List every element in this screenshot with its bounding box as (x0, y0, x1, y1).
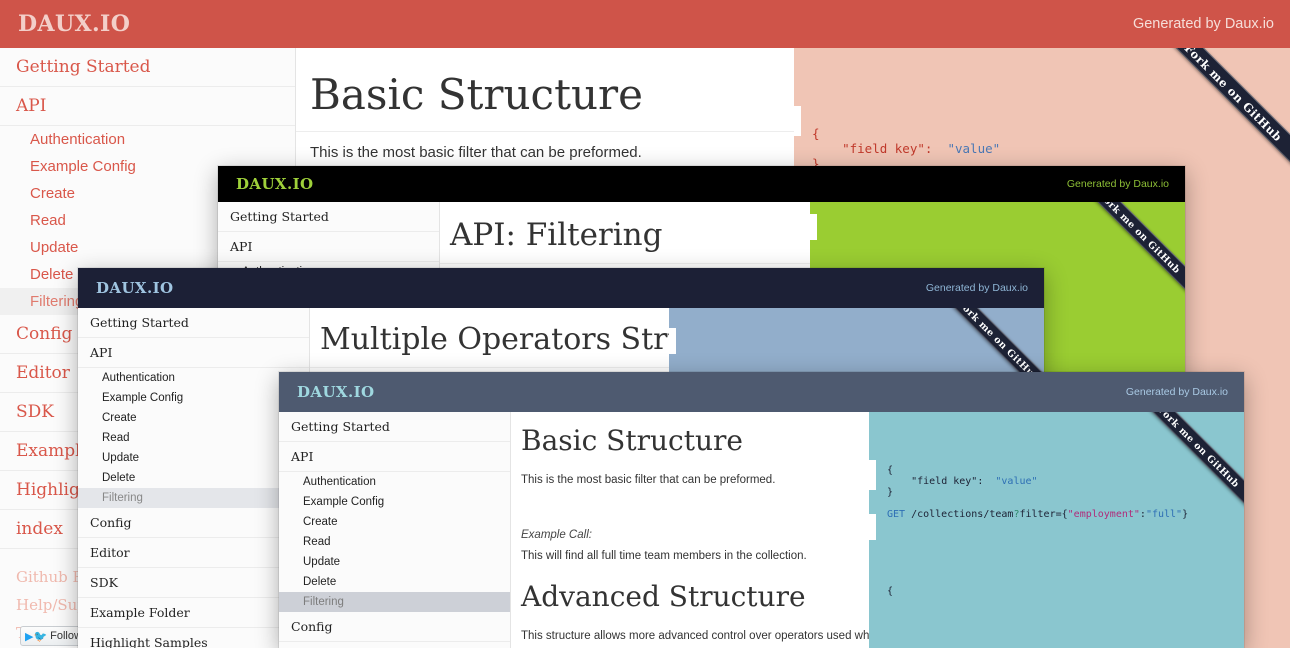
code-token-param: filter= (1019, 509, 1061, 520)
code-blank (887, 553, 1244, 564)
code-tab-notch (869, 460, 876, 490)
sidebar-item-filtering[interactable]: Filtering (279, 592, 510, 612)
code-blank (887, 542, 1244, 553)
sidebar-item-filtering[interactable]: Filtering (78, 488, 309, 508)
sidebar-item-create[interactable]: Create (279, 512, 510, 532)
ribbon-label: Fork me on GitHub (1096, 202, 1182, 276)
brand-logo[interactable]: DAUX.IO (297, 383, 374, 401)
window-header-green: DAUX.IO Generated by Daux.io (218, 166, 1185, 202)
window-header-navy: DAUX.IO Generated by Daux.io (78, 268, 1044, 308)
sidebar-item-read[interactable]: Read (279, 532, 510, 552)
desktop-stage: DAUX.IO Generated by Daux.io Getting Sta… (0, 0, 1290, 648)
sidebar-item-getting-started[interactable]: Getting Started (279, 412, 510, 442)
code-column: { "field key": "field key": "value""valu… (869, 412, 1244, 648)
sidebar-item-read[interactable]: Read (78, 428, 309, 448)
sidebar-item-api[interactable]: API (0, 87, 295, 126)
sidebar-item-delete[interactable]: Delete (78, 468, 309, 488)
sidebar-item-authentication[interactable]: Authentication (0, 126, 295, 153)
sidebar-item-api[interactable]: API (78, 338, 309, 368)
page-title: Basic Structure (511, 412, 869, 465)
brand-logo[interactable]: DAUX.IO (96, 279, 173, 297)
sidebar-item-update[interactable]: Update (279, 552, 510, 572)
code-blank (887, 564, 1244, 575)
window-header-slate: DAUX.IO Generated by Daux.io (279, 372, 1244, 412)
code-token-method: GET (887, 509, 905, 520)
page-title: API: Filtering (440, 202, 810, 264)
sidebar-item-example-config[interactable]: Example Config (78, 388, 309, 408)
page-paragraph: This is the most basic filter that can b… (296, 132, 794, 161)
sidebar-item-create[interactable]: Create (78, 408, 309, 428)
sidebar-nav[interactable]: Getting Started API Authentication Examp… (78, 308, 310, 648)
code-line: "field key": "value" (812, 141, 1290, 156)
sidebar-item-delete[interactable]: Delete (279, 572, 510, 592)
sidebar-item-sdk[interactable]: SDK (78, 568, 309, 598)
content-spacer (511, 486, 869, 520)
page-title: Basic Structure (296, 48, 794, 132)
sidebar-item-authentication[interactable]: Authentication (279, 472, 510, 492)
sidebar-item-api[interactable]: API (218, 232, 439, 262)
generated-by-label: Generated by Daux.io (1067, 178, 1169, 190)
code-line: } (887, 487, 1244, 498)
browser-window-slate[interactable]: DAUX.IO Generated by Daux.io Getting Sta… (279, 372, 1244, 648)
code-line: { (812, 126, 1290, 141)
generated-by-label: Generated by Daux.io (1133, 16, 1274, 32)
code-line: { (887, 465, 1244, 476)
code-blank (887, 498, 1244, 509)
generated-by-label: Generated by Daux.io (926, 282, 1028, 294)
sidebar-item-editor[interactable]: Editor (279, 642, 510, 648)
sidebar-item-example-config[interactable]: Example Config (279, 492, 510, 512)
code-token-brace-close: } (1182, 509, 1188, 520)
window-header-red: DAUX.IO Generated by Daux.io (0, 0, 1290, 48)
page-title-2: Advanced Structure (511, 562, 869, 621)
sidebar-item-editor[interactable]: Editor (78, 538, 309, 568)
code-tab-notch (869, 514, 876, 540)
sidebar-item-highlight-samples[interactable]: Highlight Samples (78, 628, 309, 648)
code-token-key: "employment" (1068, 509, 1140, 520)
page-paragraph-3: This structure allows more advanced cont… (511, 621, 869, 642)
code-token-value: "full" (1146, 509, 1182, 520)
page-title: Multiple Operators Structure (310, 308, 669, 368)
code-blank (887, 531, 1244, 542)
page-paragraph: This is the most basic filter that can b… (511, 465, 869, 486)
sidebar-item-getting-started[interactable]: Getting Started (78, 308, 309, 338)
code-tab-notch (794, 106, 801, 136)
generated-by-label: Generated by Daux.io (1126, 386, 1228, 398)
fork-me-on-github-ribbon[interactable]: Fork me on GitHub (1067, 202, 1185, 306)
brand-logo[interactable]: DAUX.IO (236, 175, 313, 193)
code-line: "field key": "field key": "value""value" (887, 476, 1244, 487)
code-line-request: GET /collections/team?filter={"employmen… (887, 509, 1244, 520)
sidebar-item-getting-started[interactable]: Getting Started (218, 202, 439, 232)
sidebar-item-config[interactable]: Config (78, 508, 309, 538)
sidebar-item-config[interactable]: Config (279, 612, 510, 642)
code-tab-notch (810, 214, 817, 240)
code-blank (887, 575, 1244, 586)
main-content: Basic Structure This is the most basic f… (511, 412, 869, 648)
code-blank (887, 520, 1244, 531)
window-body: Getting Started API Authentication Examp… (279, 412, 1244, 648)
example-call-label: Example Call: (511, 520, 869, 541)
sidebar-item-getting-started[interactable]: Getting Started (0, 48, 295, 87)
code-tab-notch (669, 328, 676, 354)
sidebar-item-example-folder[interactable]: Example Folder (78, 598, 309, 628)
sidebar-item-api[interactable]: API (279, 442, 510, 472)
brand-logo[interactable]: DAUX.IO (18, 11, 130, 37)
page-paragraph-2: This will find all full time team member… (511, 541, 869, 562)
sidebar-nav[interactable]: Getting Started API Authentication Examp… (279, 412, 511, 648)
sidebar-item-update[interactable]: Update (78, 448, 309, 468)
twitter-bird-icon: ▶🐦 (25, 630, 47, 643)
code-line: { (887, 586, 1244, 597)
sidebar-item-authentication[interactable]: Authentication (78, 368, 309, 388)
code-token-path: /collections/team (905, 509, 1013, 520)
